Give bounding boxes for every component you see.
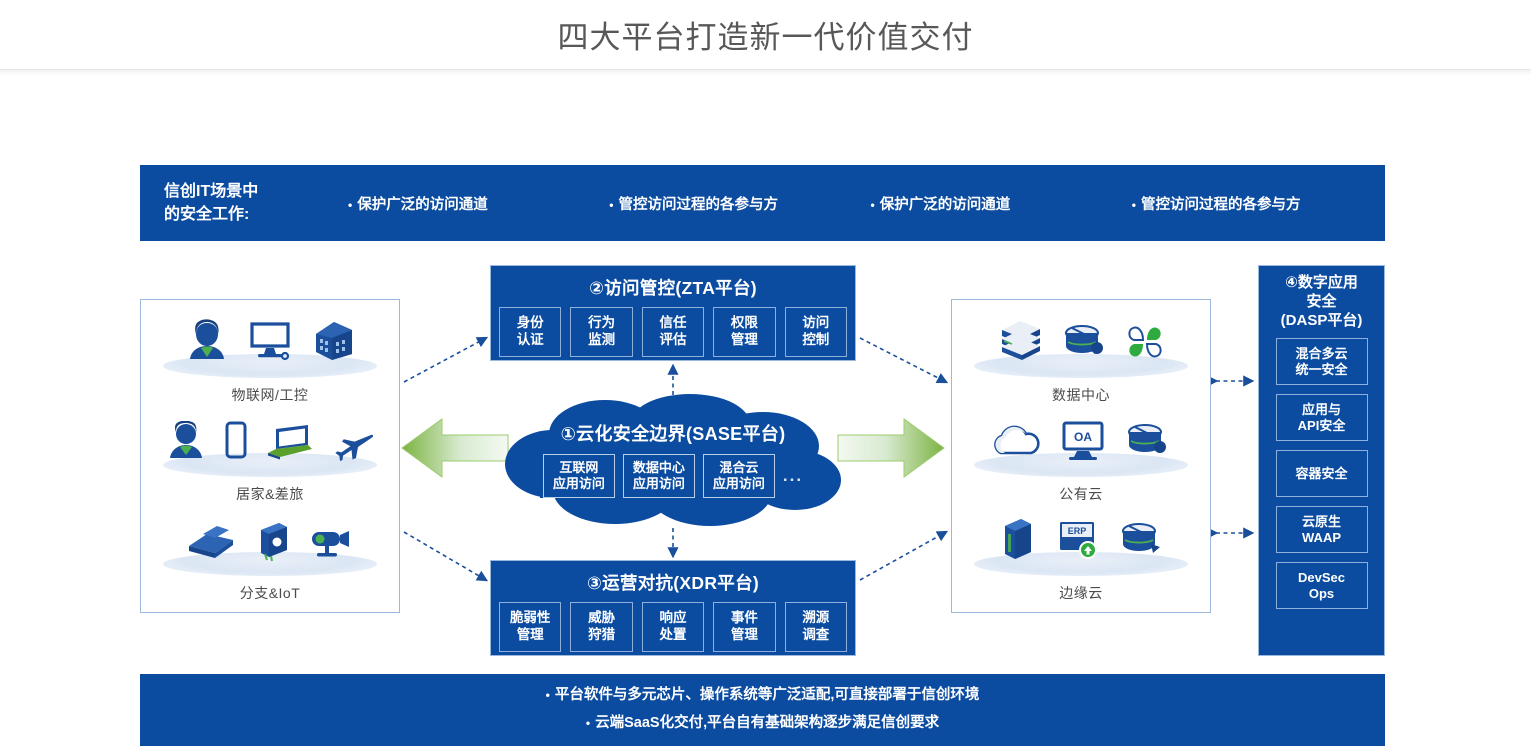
cctv-camera-icon — [307, 522, 357, 562]
dasp-platform-title: ④数字应用 安全 (DASP平台) — [1259, 266, 1384, 338]
erp-box-icon: ERP — [1053, 516, 1103, 562]
zta-capability-1-line1: 身份 — [517, 315, 544, 332]
laptop-icon — [264, 421, 316, 463]
top-banner-bullet-3-text: 保护广泛的访问通道 — [880, 197, 1011, 213]
zta-capability-3-line1: 信任 — [660, 315, 687, 332]
left-group-1-caption: 物联网/工控 — [141, 385, 399, 405]
dasp-capability-1[interactable]: 混合多云 统一安全 — [1276, 338, 1368, 385]
zta-capability-1[interactable]: 身份 认证 — [499, 307, 561, 357]
network-device-icon — [253, 518, 293, 562]
top-banner-lead: 信创IT场景中 的安全工作: — [140, 180, 340, 226]
cloud-icon — [991, 423, 1043, 463]
left-endpoint-panel: 物联网/工控 — [140, 299, 400, 613]
oa-monitor-icon: OA — [1057, 419, 1109, 463]
sase-capability-2-line2: 应用访问 — [633, 476, 685, 492]
top-banner-bullet-4: •管控访问过程的各参与方 — [1124, 193, 1385, 214]
sase-capability-3[interactable]: 混合云 应用访问 — [703, 454, 775, 498]
left-group-1-icons — [141, 308, 399, 364]
dasp-capability-4-line1: 云原生 — [1302, 514, 1341, 530]
xdr-capability-5-line2: 调查 — [802, 627, 829, 644]
xdr-capability-4-line2: 管理 — [731, 627, 758, 644]
app-clover-icon — [1122, 320, 1168, 364]
zta-capability-3[interactable]: 信任 评估 — [642, 307, 704, 357]
dasp-capability-5-line2: Ops — [1309, 586, 1334, 602]
dasp-platform-title-line1: ④数字应用 — [1263, 274, 1380, 293]
zta-capability-1-line2: 认证 — [517, 332, 544, 349]
connector-zta-to-right — [860, 338, 946, 382]
top-banner-bullet-2: •管控访问过程的各参与方 — [601, 193, 862, 214]
dasp-capability-2-line1: 应用与 — [1302, 402, 1341, 418]
arrow-left-green-icon — [400, 416, 510, 480]
right-group-2-icons: OA — [952, 407, 1210, 463]
bullet-dot-icon: • — [609, 198, 613, 212]
dasp-capability-4[interactable]: 云原生 WAAP — [1276, 506, 1368, 553]
zta-capability-4-line1: 权限 — [731, 315, 758, 332]
user-female-icon — [182, 318, 232, 364]
svg-text:ERP: ERP — [1068, 526, 1087, 536]
server-tower-icon — [997, 516, 1039, 562]
xdr-capability-5-line1: 溯源 — [802, 610, 829, 627]
top-banner-bullets: •保护广泛的访问通道 •管控访问过程的各参与方 •保护广泛的访问通道 •管控访问… — [340, 193, 1385, 214]
xdr-capability-2-line1: 威胁 — [588, 610, 615, 627]
dasp-capability-4-line2: WAAP — [1302, 530, 1341, 546]
mobile-phone-icon — [222, 419, 250, 463]
left-group-3: 分支&IoT — [141, 506, 399, 603]
sase-capability-1[interactable]: 互联网 应用访问 — [543, 454, 615, 498]
top-banner-bullet-1: •保护广泛的访问通道 — [340, 193, 601, 214]
top-banner-bullet-2-text: 管控访问过程的各参与方 — [618, 197, 778, 213]
top-banner-bullet-1-text: 保护广泛的访问通道 — [357, 197, 488, 213]
zta-capability-2[interactable]: 行为 监测 — [570, 307, 632, 357]
xdr-capability-1-line2: 管理 — [517, 627, 544, 644]
printer-icon — [183, 520, 239, 562]
user-male-icon — [164, 421, 208, 463]
factory-building-icon — [308, 318, 358, 364]
slide-canvas: 四大平台打造新一代价值交付 信创IT场景中 的安全工作: •保护广泛的访问通道 … — [0, 0, 1531, 749]
xdr-capability-2-line2: 狩猎 — [588, 627, 615, 644]
zta-capability-4[interactable]: 权限 管理 — [713, 307, 775, 357]
server-stack-icon — [994, 318, 1046, 364]
sase-capability-list: 互联网 应用访问 数据中心 应用访问 混合云 应用访问 ... — [543, 454, 803, 498]
bottom-banner: •平台软件与多元芯片、操作系统等广泛适配,可直接部署于信创环境 •云端SaaS化… — [140, 674, 1385, 746]
bottom-banner-line-1-text: 平台软件与多元芯片、操作系统等广泛适配,可直接部署于信创环境 — [555, 687, 980, 703]
bullet-dot-icon: • — [871, 198, 875, 212]
xdr-capability-list: 脆弱性 管理 威胁 狩猎 响应 处置 事件 管理 溯源 调查 — [491, 602, 855, 661]
sase-capability-3-line1: 混合云 — [719, 460, 758, 476]
left-group-2-caption: 居家&差旅 — [141, 484, 399, 504]
dasp-capability-2-line2: API安全 — [1298, 418, 1346, 434]
connector-xdr-to-right — [860, 532, 946, 580]
right-group-1-icons — [952, 308, 1210, 364]
dasp-platform-title-line3: (DASP平台) — [1263, 312, 1380, 331]
right-workload-panel: 数据中心 OA — [951, 299, 1211, 613]
top-banner-bullet-3: •保护广泛的访问通道 — [863, 193, 1124, 214]
dasp-platform-title-line2: 安全 — [1263, 293, 1380, 312]
sase-capability-2[interactable]: 数据中心 应用访问 — [623, 454, 695, 498]
dasp-capability-1-line2: 统一安全 — [1295, 362, 1347, 378]
right-group-1: 数据中心 — [952, 308, 1210, 405]
xdr-capability-1-line1: 脆弱性 — [510, 610, 551, 627]
zta-capability-5[interactable]: 访问 控制 — [785, 307, 847, 357]
dasp-platform-box[interactable]: ④数字应用 安全 (DASP平台) 混合多云 统一安全 应用与 API安全 容器… — [1258, 265, 1385, 656]
bullet-dot-icon: • — [586, 716, 590, 730]
xdr-capability-2[interactable]: 威胁 狩猎 — [570, 602, 632, 652]
xdr-capability-1[interactable]: 脆弱性 管理 — [499, 602, 561, 652]
left-group-3-icons — [141, 506, 399, 562]
sase-cloud-content: ①云化安全边界(SASE平台) 互联网 应用访问 数据中心 应用访问 混合云 应… — [495, 394, 851, 530]
sase-capability-2-line1: 数据中心 — [633, 460, 685, 476]
database-icon — [1060, 320, 1108, 364]
xdr-capability-4[interactable]: 事件 管理 — [713, 602, 775, 652]
zta-capability-2-line1: 行为 — [588, 315, 615, 332]
right-group-3: ERP 边缘云 — [952, 506, 1210, 603]
xdr-capability-4-line1: 事件 — [731, 610, 758, 627]
title-divider — [0, 70, 1531, 76]
zta-capability-3-line2: 评估 — [660, 332, 687, 349]
xdr-capability-3-line1: 响应 — [660, 610, 687, 627]
right-group-2-caption: 公有云 — [952, 484, 1210, 504]
xdr-capability-3-line2: 处置 — [660, 627, 687, 644]
bullet-dot-icon: • — [348, 198, 352, 212]
arrow-right-green-icon — [836, 416, 946, 480]
zta-capability-5-line1: 访问 — [802, 315, 829, 332]
right-group-3-caption: 边缘云 — [952, 583, 1210, 603]
sase-platform-title: ①云化安全边界(SASE平台) — [561, 420, 786, 446]
database-icon — [1117, 518, 1165, 562]
zta-capability-2-line2: 监测 — [588, 332, 615, 349]
bottom-banner-line-2: •云端SaaS化交付,平台自有基础架构逐步满足信创要求 — [586, 710, 939, 738]
connector-left-to-zta — [404, 338, 486, 382]
connector-left-to-xdr — [404, 532, 486, 580]
right-group-1-caption: 数据中心 — [952, 385, 1210, 405]
right-group-2: OA 公有云 — [952, 407, 1210, 504]
xdr-capability-3[interactable]: 响应 处置 — [642, 602, 704, 652]
left-group-3-caption: 分支&IoT — [141, 583, 399, 603]
top-banner-lead-line1: 信创IT场景中 — [164, 180, 340, 203]
top-banner-lead-line2: 的安全工作: — [164, 203, 340, 226]
sase-cloud[interactable]: ①云化安全边界(SASE平台) 互联网 应用访问 数据中心 应用访问 混合云 应… — [495, 394, 851, 530]
bullet-dot-icon: • — [546, 688, 550, 702]
zta-capability-list: 身份 认证 行为 监测 信任 评估 权限 管理 访问 控制 — [491, 307, 855, 366]
airplane-icon — [330, 423, 376, 463]
dasp-capability-1-line1: 混合多云 — [1295, 346, 1347, 362]
dasp-capability-3[interactable]: 容器安全 — [1276, 450, 1368, 497]
zta-platform-box[interactable]: ②访问管控(ZTA平台) 身份 认证 行为 监测 信任 评估 权限 管理 访问 … — [490, 265, 856, 361]
zta-capability-5-line2: 控制 — [802, 332, 829, 349]
database-icon — [1123, 419, 1171, 463]
sase-capability-more: ... — [783, 466, 803, 486]
dasp-capability-5[interactable]: DevSec Ops — [1276, 562, 1368, 609]
dasp-capability-2[interactable]: 应用与 API安全 — [1276, 394, 1368, 441]
dasp-capability-3-line1: 容器安全 — [1295, 466, 1347, 482]
bottom-banner-line-1: •平台软件与多元芯片、操作系统等广泛适配,可直接部署于信创环境 — [546, 682, 980, 710]
xdr-capability-5[interactable]: 溯源 调查 — [785, 602, 847, 652]
sase-capability-3-line2: 应用访问 — [713, 476, 765, 492]
left-group-2-icons — [141, 407, 399, 463]
right-group-3-icons: ERP — [952, 506, 1210, 562]
xdr-platform-box[interactable]: ③运营对抗(XDR平台) 脆弱性 管理 威胁 狩猎 响应 处置 事件 管理 溯源… — [490, 560, 856, 656]
svg-text:OA: OA — [1074, 430, 1092, 444]
top-banner: 信创IT场景中 的安全工作: •保护广泛的访问通道 •管控访问过程的各参与方 •… — [140, 165, 1385, 241]
zta-platform-title: ②访问管控(ZTA平台) — [491, 266, 855, 307]
slide-title-bar: 四大平台打造新一代价值交付 — [0, 0, 1531, 70]
top-banner-bullet-4-text: 管控访问过程的各参与方 — [1141, 197, 1301, 213]
desktop-monitor-icon — [246, 320, 294, 364]
dasp-capability-5-line1: DevSec — [1298, 570, 1345, 586]
left-group-1: 物联网/工控 — [141, 308, 399, 405]
sase-capability-1-line1: 互联网 — [559, 460, 598, 476]
zta-capability-4-line2: 管理 — [731, 332, 758, 349]
left-group-2: 居家&差旅 — [141, 407, 399, 504]
page-title: 四大平台打造新一代价值交付 — [558, 12, 974, 57]
bottom-banner-line-2-text: 云端SaaS化交付,平台自有基础架构逐步满足信创要求 — [595, 715, 939, 731]
sase-capability-1-line2: 应用访问 — [553, 476, 605, 492]
xdr-platform-title: ③运营对抗(XDR平台) — [491, 561, 855, 602]
bullet-dot-icon: • — [1132, 198, 1136, 212]
